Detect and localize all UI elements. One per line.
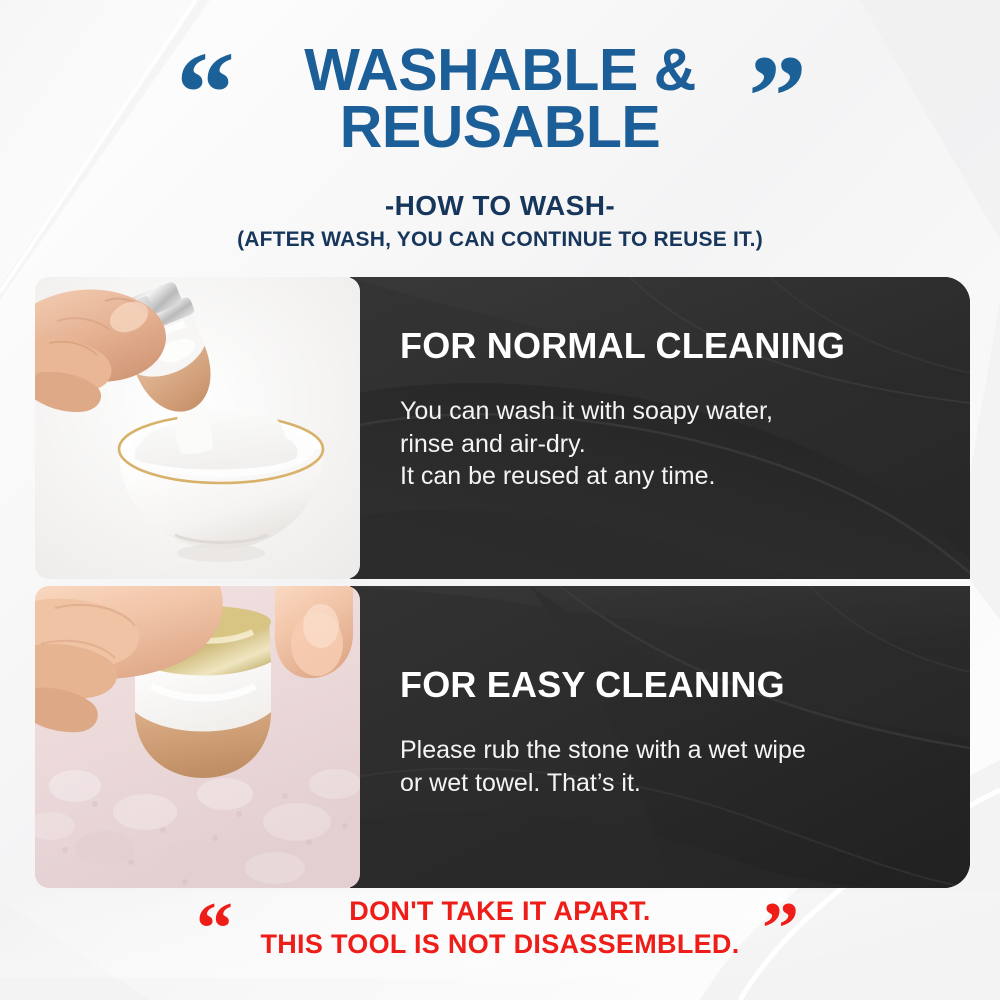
card-normal-cleaning: FOR NORMAL CLEANING You can wash it with…: [0, 277, 1000, 579]
card-body-normal-cleaning: You can wash it with soapy water, rinse …: [400, 395, 773, 493]
page-title: WASHABLE & REUSABLE: [0, 42, 1000, 156]
title-line-2: REUSABLE: [0, 99, 1000, 156]
warning-text: DON'T TAKE IT APART. THIS TOOL IS NOT DI…: [0, 895, 1000, 962]
body-line-1: Please rub the stone with a wet wipe: [400, 734, 806, 767]
body-line-2: or wet towel. That’s it.: [400, 767, 806, 800]
panel-easy-cleaning: FOR EASY CLEANING Please rub the stone w…: [350, 586, 970, 888]
header-subnote: (AFTER WASH, YOU CAN CONTINUE TO REUSE I…: [0, 228, 1000, 252]
body-line-3: It can be reused at any time.: [400, 460, 773, 493]
photo-easy-cleaning: [35, 586, 360, 888]
card-title-normal-cleaning: FOR NORMAL CLEANING: [400, 325, 845, 367]
photo-normal-cleaning: [35, 277, 360, 579]
body-line-1: You can wash it with soapy water,: [400, 395, 773, 428]
header-section: “ ” WASHABLE & REUSABLE -HOW TO WASH- (A…: [0, 0, 1000, 272]
warning-line-2: THIS TOOL IS NOT DISASSEMBLED.: [0, 928, 1000, 961]
footer-warning: “ ” DON'T TAKE IT APART. THIS TOOL IS NO…: [0, 895, 1000, 975]
card-title-easy-cleaning: FOR EASY CLEANING: [400, 664, 785, 706]
title-line-1: WASHABLE &: [0, 42, 1000, 99]
body-line-2: rinse and air-dry.: [400, 428, 773, 461]
panel-normal-cleaning: FOR NORMAL CLEANING You can wash it with…: [350, 277, 970, 579]
warning-line-1: DON'T TAKE IT APART.: [0, 895, 1000, 928]
card-easy-cleaning: FOR EASY CLEANING Please rub the stone w…: [0, 586, 1000, 888]
card-body-easy-cleaning: Please rub the stone with a wet wipe or …: [400, 734, 806, 799]
header-subtitle: -HOW TO WASH-: [0, 190, 1000, 222]
